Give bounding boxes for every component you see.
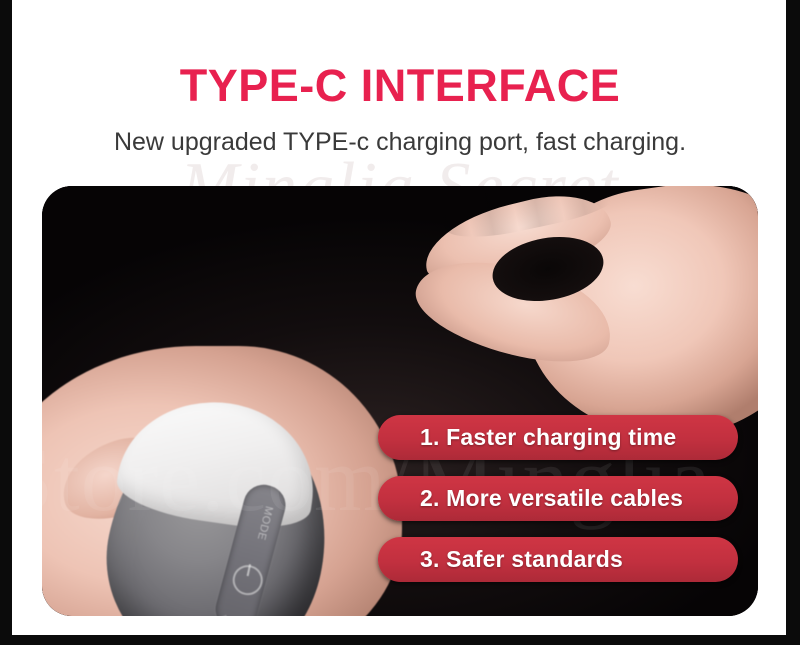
promo-page: TYPE-C INTERFACE New upgraded TYPE-c cha…: [0, 0, 800, 645]
feature-badge-label: 1. Faster charging time: [378, 424, 676, 451]
feature-badge: 2. More versatile cables: [378, 476, 738, 521]
bottom-edge-bar: [0, 635, 800, 645]
product-device: MODE Minglia: [85, 392, 349, 616]
page-title: TYPE-C INTERFACE: [0, 60, 800, 112]
feature-badge-label: 3. Safer standards: [378, 546, 623, 573]
feature-badge: 3. Safer standards: [378, 537, 738, 582]
right-edge-bar: [786, 0, 800, 645]
header-block: TYPE-C INTERFACE New upgraded TYPE-c cha…: [0, 0, 800, 186]
feature-badge: 1. Faster charging time: [378, 415, 738, 460]
left-edge-bar: [0, 0, 12, 645]
feature-badge-label: 2. More versatile cables: [378, 485, 683, 512]
page-subtitle: New upgraded TYPE-c charging port, fast …: [0, 128, 800, 157]
product-photo: MODE Minglia Store.com/Minglia 1. Faster…: [42, 186, 758, 616]
feature-badge-list: 1. Faster charging time 2. More versatil…: [378, 415, 738, 582]
